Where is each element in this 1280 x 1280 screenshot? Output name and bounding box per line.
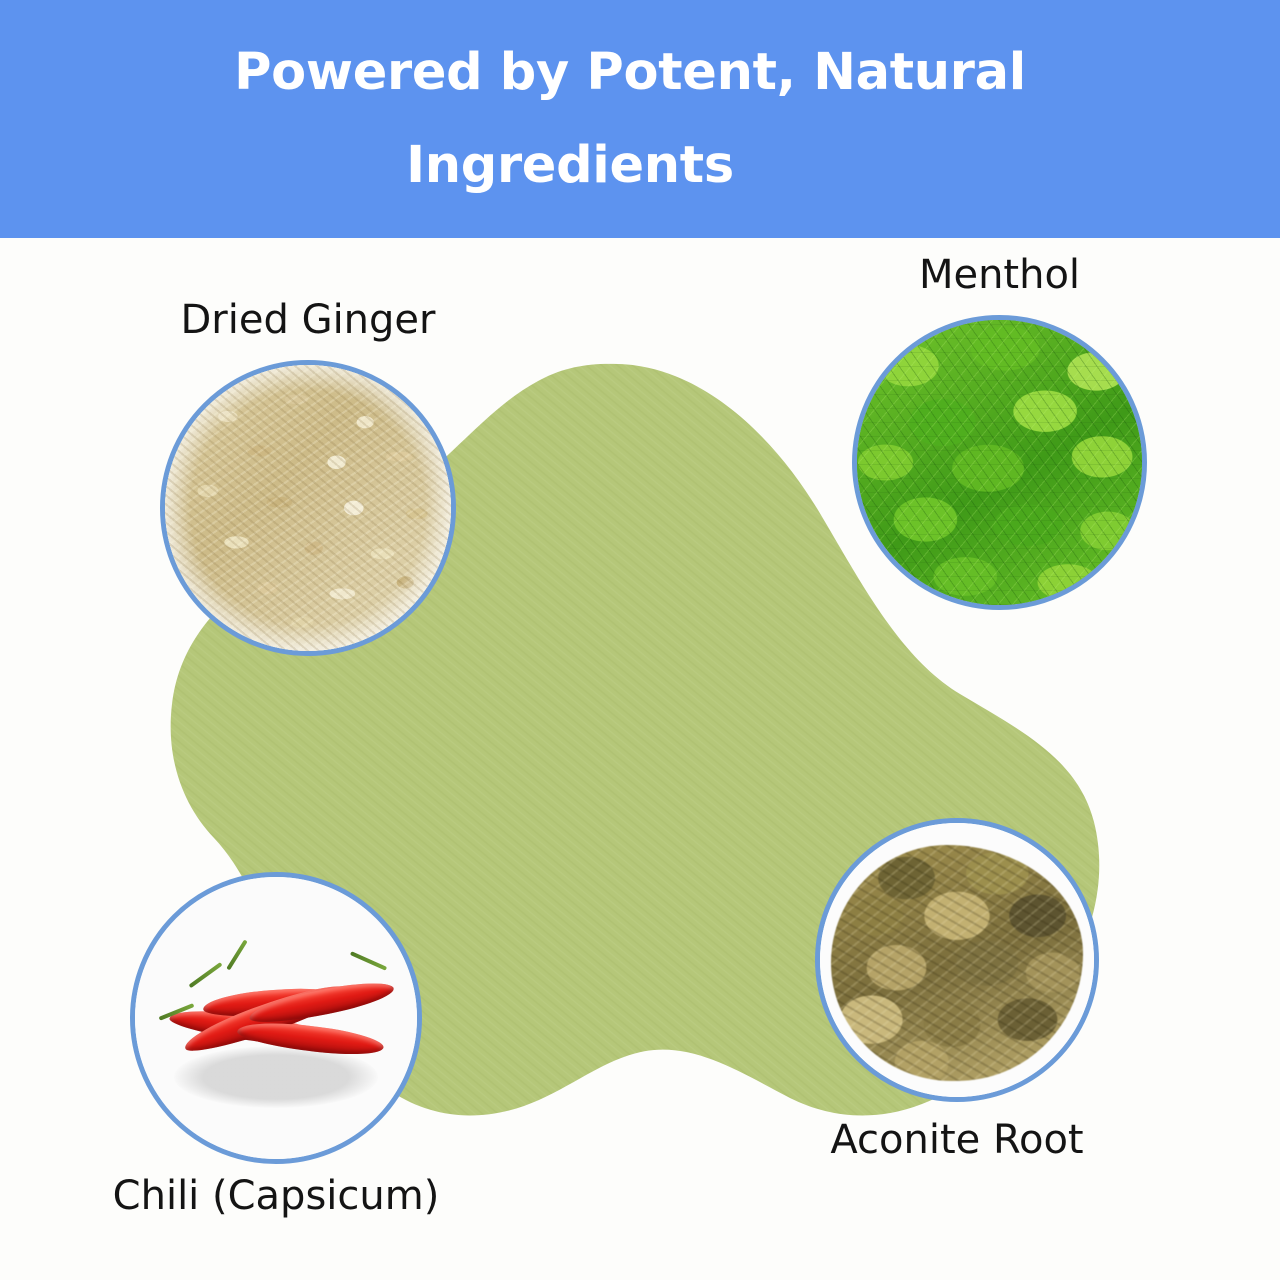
page-title-line-2: Ingredients [406,140,734,191]
aconite-root-circle[interactable] [815,818,1099,1102]
ingredient-label-dried-ginger: Dried Ginger [160,300,456,340]
menthol-circle[interactable] [852,315,1147,610]
ingredient-label-menthol: Menthol [852,255,1147,295]
menthol-leaves-photo-icon [857,320,1142,605]
ingredient-label-aconite-root: Aconite Root [796,1120,1118,1160]
header-banner: Powered by Potent, Natural Ingredients [0,0,1280,238]
aconite-root-photo-icon [820,823,1094,1097]
dried-ginger-photo-icon [165,365,451,651]
chili-circle[interactable] [130,872,422,1164]
ingredients-diagram: Dried Ginger Menthol Chi [0,238,1280,1280]
ingredient-label-chili-capsicum: Chili (Capsicum) [86,1176,466,1216]
dried-ginger-circle[interactable] [160,360,456,656]
chili-peppers-photo-icon [135,877,417,1159]
page-title-line-1: Powered by Potent, Natural [234,47,1026,98]
